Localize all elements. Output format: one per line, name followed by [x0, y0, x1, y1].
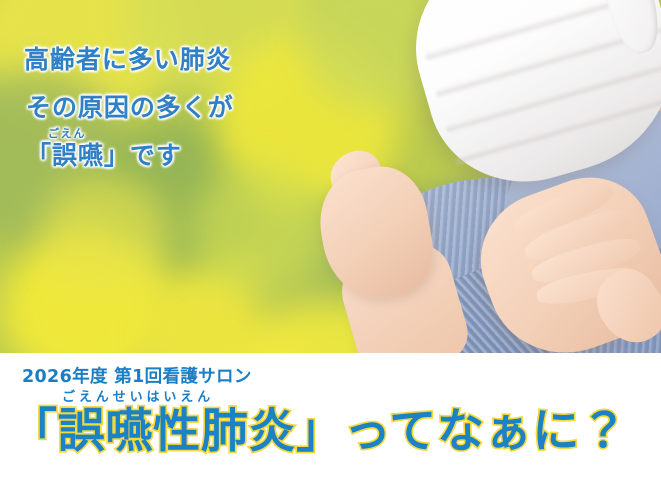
hero-photo: 高齢者に多い肺炎 その原因の多くが ごえん 「誤嚥」です — [0, 0, 661, 353]
person-photo-subject — [300, 0, 661, 353]
overlay-line-3-group: ごえん 「誤嚥」です — [26, 128, 182, 171]
overlay-line-3-furigana: ごえん — [48, 128, 182, 140]
main-title: 「誤嚥性肺炎」ってなぁに？ — [10, 406, 628, 458]
overlay-line-1: 高齢者に多い肺炎 — [24, 40, 232, 76]
poster-root: 高齢者に多い肺炎 その原因の多くが ごえん 「誤嚥」です 2026年度 第1回看… — [0, 0, 661, 479]
bokeh-blob — [40, 175, 170, 295]
event-eyebrow-label: 2026年度 第1回看護サロン — [22, 363, 252, 388]
mask-pleat — [445, 61, 661, 135]
main-title-furigana: ごえんせいはいえん — [62, 391, 628, 405]
main-title-group: ごえんせいはいえん 「誤嚥性肺炎」ってなぁに？ — [10, 391, 628, 458]
title-banner: 2026年度 第1回看護サロン ごえんせいはいえん 「誤嚥性肺炎」ってなぁに？ — [0, 353, 661, 479]
overlay-line-3: 「誤嚥」です — [26, 140, 182, 171]
overlay-line-2: その原因の多くが — [26, 88, 234, 124]
